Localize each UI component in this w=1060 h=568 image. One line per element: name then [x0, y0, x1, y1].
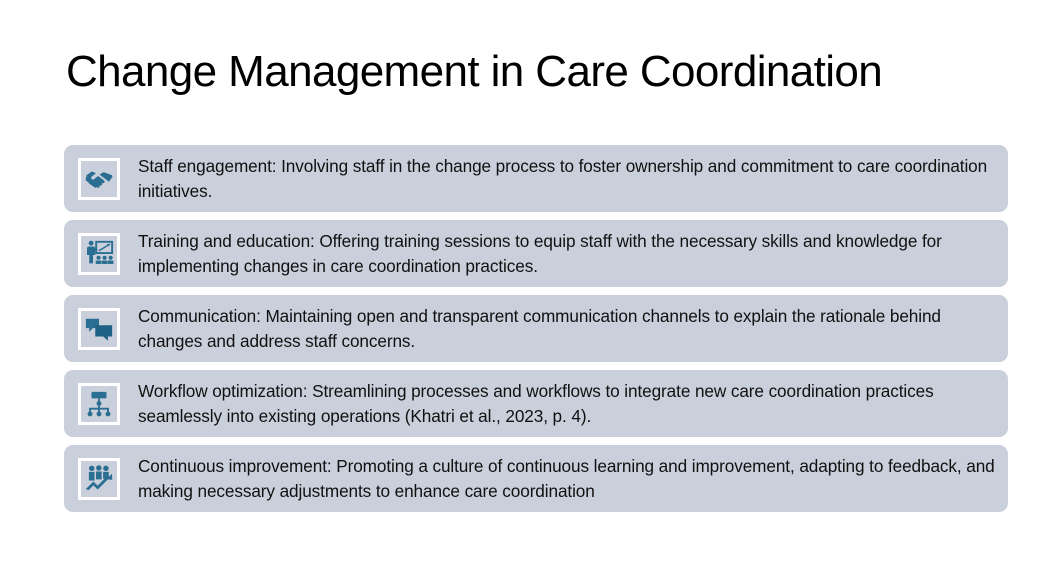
list-item-text: Communication: Maintaining open and tran… [138, 304, 996, 354]
list-item[interactable]: Staff engagement: Involving staff in the… [64, 145, 1008, 212]
list-item[interactable]: Communication: Maintaining open and tran… [64, 295, 1008, 362]
speech-bubbles-icon [78, 308, 120, 350]
list-item[interactable]: Training and education: Offering trainin… [64, 220, 1008, 287]
list-item-text: Staff engagement: Involving staff in the… [138, 154, 996, 204]
handshake-icon [78, 158, 120, 200]
bullet-card-list: Staff engagement: Involving staff in the… [64, 145, 1008, 512]
training-presentation-icon [78, 233, 120, 275]
org-chart-icon [78, 383, 120, 425]
growth-people-icon [78, 458, 120, 500]
list-item-text: Continuous improvement: Promoting a cult… [138, 454, 996, 504]
slide-canvas: Change Management in Care Coordination S… [0, 0, 1060, 568]
list-item-text: Workflow optimization: Streamlining proc… [138, 379, 996, 429]
list-item[interactable]: Workflow optimization: Streamlining proc… [64, 370, 1008, 437]
list-item[interactable]: Continuous improvement: Promoting a cult… [64, 445, 1008, 512]
page-title: Change Management in Care Coordination [66, 44, 882, 100]
list-item-text: Training and education: Offering trainin… [138, 229, 996, 279]
